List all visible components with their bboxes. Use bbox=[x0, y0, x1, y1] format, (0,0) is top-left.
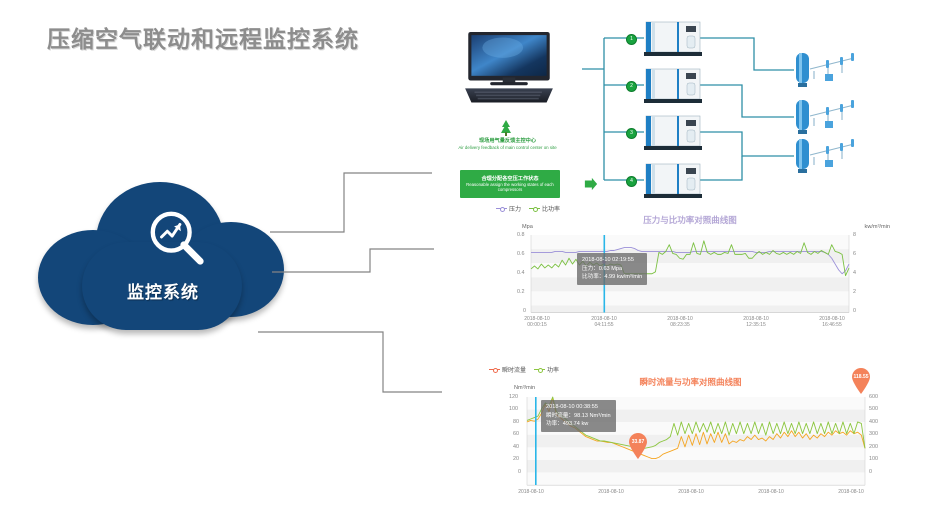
slide-root: 压缩空气联动和远程监控系统 监控系统 bbox=[0, 0, 945, 529]
monitoring-system-cloud[interactable]: 监控系统 bbox=[38, 182, 288, 332]
cloud-label: 监控系统 bbox=[38, 278, 288, 303]
magnifier-chart-icon bbox=[146, 207, 208, 269]
